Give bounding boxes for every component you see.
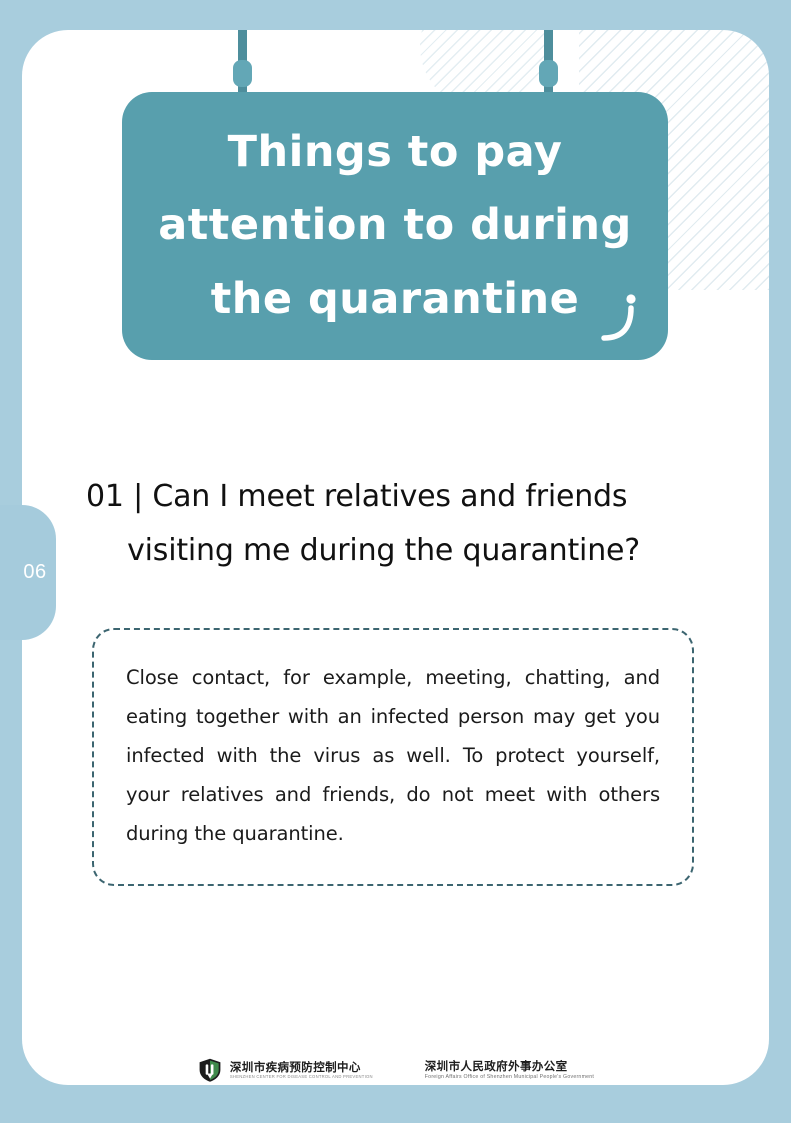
hanger-pin-left <box>233 60 252 87</box>
banner-title-line-3: the quarantine <box>191 263 600 336</box>
logo-foreign-affairs-office-name-cn: 深圳市人民政府外事办公室 <box>425 1060 594 1073</box>
logo-shenzhen-cdc: 深圳市疾病预防控制中心 SHENZHEN CENTER FOR DISEASE … <box>197 1057 373 1083</box>
logo-shenzhen-cdc-name-en: SHENZHEN CENTER FOR DISEASE CONTROL AND … <box>230 1074 373 1079</box>
question-line-2: visiting me during the quarantine? <box>86 524 686 578</box>
banner-title-line-1: Things to pay <box>208 116 583 189</box>
smiley-face-icon <box>592 288 650 348</box>
logo-foreign-affairs-office-name-en: Foreign Affairs Office of Shenzhen Munic… <box>425 1074 594 1080</box>
hanger-pin-right <box>539 60 558 87</box>
answer-box: Close contact, for example, meeting, cha… <box>92 628 694 886</box>
footer: 深圳市疾病预防控制中心 SHENZHEN CENTER FOR DISEASE … <box>0 1057 791 1083</box>
logo-shenzhen-cdc-name-cn: 深圳市疾病预防控制中心 <box>230 1061 373 1074</box>
logo-foreign-affairs-office-text: 深圳市人民政府外事办公室 Foreign Affairs Office of S… <box>425 1060 594 1080</box>
question-line-1: 01 | Can I meet relatives and friends <box>86 470 686 524</box>
shenzhen-cdc-shield-icon <box>197 1057 223 1083</box>
banner-title-line-2: attention to during <box>138 189 652 262</box>
title-banner: Things to pay attention to during the qu… <box>122 92 668 360</box>
logo-foreign-affairs-office: 深圳市人民政府外事办公室 Foreign Affairs Office of S… <box>425 1060 594 1080</box>
answer-text: Close contact, for example, meeting, cha… <box>126 658 660 853</box>
page-number-tab: 06 <box>0 505 56 640</box>
question-heading: 01 | Can I meet relatives and friends vi… <box>86 470 686 578</box>
logo-shenzhen-cdc-text: 深圳市疾病预防控制中心 SHENZHEN CENTER FOR DISEASE … <box>230 1061 373 1080</box>
page-number-label: 06 <box>9 561 46 584</box>
